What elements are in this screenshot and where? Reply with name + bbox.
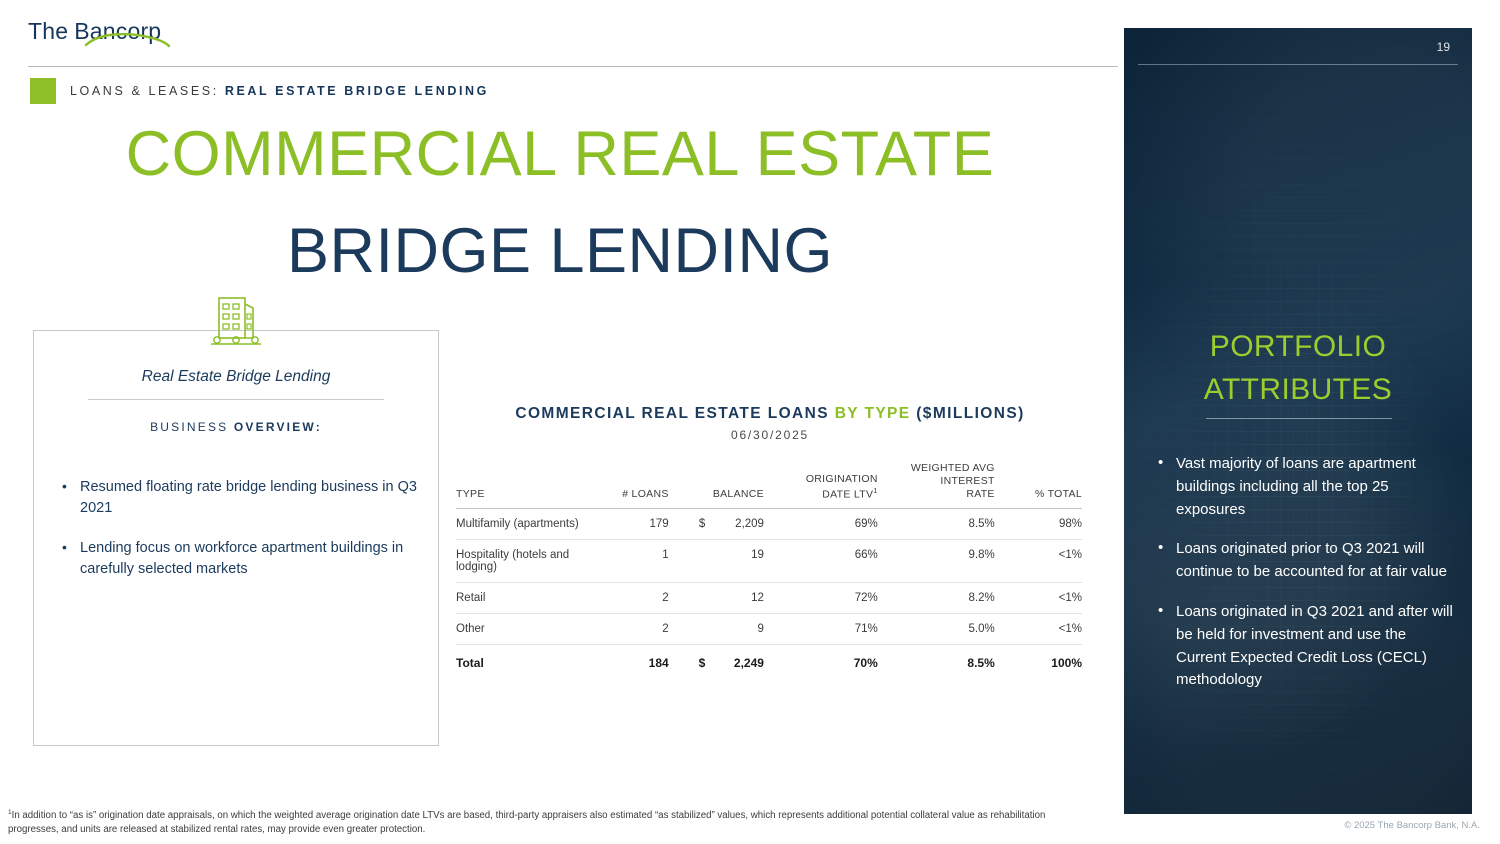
col-loans: # LOANS xyxy=(609,462,691,509)
panel-bullet-list: Vast majority of loans are apartment bui… xyxy=(1150,453,1456,709)
slide: The Bancorp LOANS & LEASES: REAL ESTATE … xyxy=(0,0,1500,844)
cell-ltv: 71% xyxy=(782,614,896,645)
accent-square xyxy=(30,78,56,104)
cell-rate: 5.0% xyxy=(896,614,1009,645)
panel-title-line1: PORTFOLIO xyxy=(1210,330,1386,363)
card-subtitle-bold: OVERVIEW: xyxy=(234,420,322,434)
panel-title-divider xyxy=(1206,418,1392,419)
cell-loans: 2 xyxy=(609,614,691,645)
cell-rate: 8.5% xyxy=(896,509,1009,540)
col-ltv-footnote-marker: 1 xyxy=(873,486,877,495)
table-row: Hospitality (hotels and lodging) 1 19 66… xyxy=(456,540,1082,583)
list-item: Lending focus on workforce apartment bui… xyxy=(58,538,428,581)
building-icon xyxy=(205,292,267,354)
col-type: TYPE xyxy=(456,462,609,509)
cell-balance: 12 xyxy=(705,583,782,614)
col-balance: BALANCE xyxy=(705,462,782,509)
cell-rate: 9.8% xyxy=(896,540,1009,583)
cell-ltv: 72% xyxy=(782,583,896,614)
breadcrumb-prefix: LOANS & LEASES: xyxy=(70,84,219,98)
col-rate-line1: WEIGHTED AVG INTEREST xyxy=(911,462,995,487)
cell-type: Hospitality (hotels and lodging) xyxy=(456,540,609,583)
list-item: Loans originated prior to Q3 2021 will c… xyxy=(1150,538,1456,584)
cell-currency: $ xyxy=(691,645,706,680)
table-row: Multifamily (apartments) 179 $ 2,209 69%… xyxy=(456,509,1082,540)
table-title: COMMERCIAL REAL ESTATE LOANS BY TYPE ($M… xyxy=(455,405,1085,423)
cell-pct: <1% xyxy=(1009,540,1082,583)
list-item: Loans originated in Q3 2021 and after wi… xyxy=(1150,601,1456,692)
cell-loans: 184 xyxy=(609,645,691,680)
col-weighted-avg-rate: WEIGHTED AVG INTEREST RATE xyxy=(896,462,1009,509)
cell-currency xyxy=(691,614,706,645)
footnote: 1In addition to “as is” origination date… xyxy=(8,808,1098,837)
table-title-part1: COMMERCIAL REAL ESTATE LOANS xyxy=(515,405,834,422)
cell-pct: <1% xyxy=(1009,583,1082,614)
breadcrumb-text: LOANS & LEASES: REAL ESTATE BRIDGE LENDI… xyxy=(70,84,489,98)
panel-title-line2: ATTRIBUTES xyxy=(1204,373,1392,406)
cell-loans: 179 xyxy=(609,509,691,540)
table-title-highlight: BY TYPE xyxy=(835,405,911,422)
cell-balance: 9 xyxy=(705,614,782,645)
page-title-line1: COMMERCIAL REAL ESTATE xyxy=(0,118,1120,190)
card-divider xyxy=(88,399,384,400)
cell-pct: 98% xyxy=(1009,509,1082,540)
logo-the-text: The xyxy=(28,18,68,45)
card-subtitle-light: BUSINESS xyxy=(150,420,234,434)
table-title-part2: ($MILLIONS) xyxy=(911,405,1025,422)
col-currency xyxy=(691,462,706,509)
cell-currency xyxy=(691,540,706,583)
cell-type: Multifamily (apartments) xyxy=(456,509,609,540)
portfolio-attributes-panel: 19 PORTFOLIO ATTRIBUTES Vast majority of… xyxy=(1124,28,1472,814)
page-title-line2: BRIDGE LENDING xyxy=(0,215,1120,287)
table-row: Other 2 9 71% 5.0% <1% xyxy=(456,614,1082,645)
cell-loans: 1 xyxy=(609,540,691,583)
cell-pct: <1% xyxy=(1009,614,1082,645)
loans-table: TYPE # LOANS BALANCE ORIGINATION DATE LT… xyxy=(456,462,1082,679)
cell-pct: 100% xyxy=(1009,645,1082,680)
table-date: 06/30/2025 xyxy=(455,428,1085,442)
footnote-text: In addition to “as is” origination date … xyxy=(8,810,1045,835)
col-pct-total: % TOTAL xyxy=(1009,462,1082,509)
logo-bancorp-text: Bancorp xyxy=(74,18,161,45)
table-header-row: TYPE # LOANS BALANCE ORIGINATION DATE LT… xyxy=(456,462,1082,509)
panel-top-divider xyxy=(1138,64,1458,65)
list-item: Resumed floating rate bridge lending bus… xyxy=(58,477,428,520)
cell-balance: 2,209 xyxy=(705,509,782,540)
table-row: Retail 2 12 72% 8.2% <1% xyxy=(456,583,1082,614)
card-bullet-list: Resumed floating rate bridge lending bus… xyxy=(58,477,428,599)
col-rate-line2: RATE xyxy=(966,488,994,500)
col-ltv-line2: DATE LTV xyxy=(822,488,873,500)
list-item: Vast majority of loans are apartment bui… xyxy=(1150,453,1456,521)
card-subtitle: BUSINESS OVERVIEW: xyxy=(33,420,439,434)
header-divider xyxy=(28,66,1118,67)
cell-rate: 8.5% xyxy=(896,645,1009,680)
cell-currency xyxy=(691,583,706,614)
cell-balance: 19 xyxy=(705,540,782,583)
cell-ltv: 66% xyxy=(782,540,896,583)
cell-rate: 8.2% xyxy=(896,583,1009,614)
cell-type: Retail xyxy=(456,583,609,614)
breadcrumb-topic: REAL ESTATE BRIDGE LENDING xyxy=(225,84,489,98)
cell-ltv: 69% xyxy=(782,509,896,540)
col-ltv-line1: ORIGINATION xyxy=(806,473,878,485)
cell-ltv: 70% xyxy=(782,645,896,680)
breadcrumb: LOANS & LEASES: REAL ESTATE BRIDGE LENDI… xyxy=(30,78,489,104)
panel-title: PORTFOLIO ATTRIBUTES xyxy=(1124,326,1472,411)
table-total-row: Total 184 $ 2,249 70% 8.5% 100% xyxy=(456,645,1082,680)
page-number: 19 xyxy=(1437,40,1450,54)
cell-type: Other xyxy=(456,614,609,645)
cell-balance: 2,249 xyxy=(705,645,782,680)
cell-loans: 2 xyxy=(609,583,691,614)
cell-type: Total xyxy=(456,645,609,680)
card-title: Real Estate Bridge Lending xyxy=(33,368,439,386)
col-origination-ltv: ORIGINATION DATE LTV1 xyxy=(782,462,896,509)
copyright-text: © 2025 The Bancorp Bank, N.A. xyxy=(1344,820,1480,831)
company-logo: The Bancorp xyxy=(28,18,161,45)
cell-currency: $ xyxy=(691,509,706,540)
